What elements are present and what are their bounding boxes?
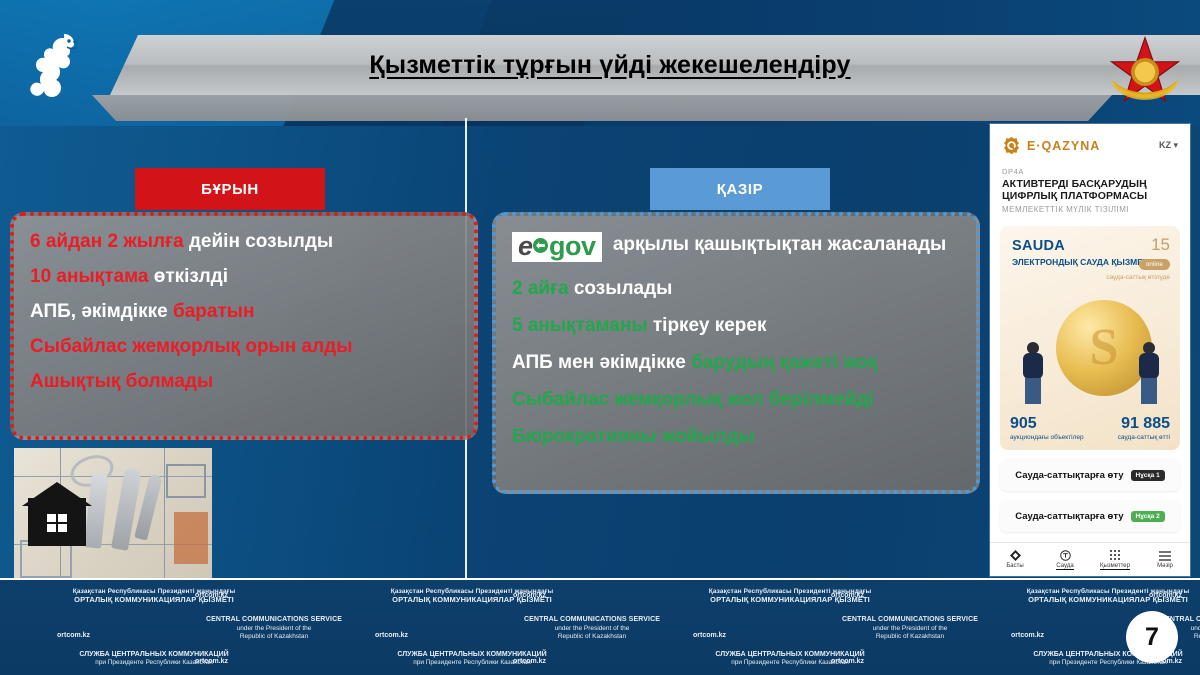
list-item: Сыбайлас жемқорлық жол берілмейді xyxy=(512,390,962,410)
person-graphic xyxy=(1020,342,1046,408)
header-band-shadow xyxy=(92,95,1112,121)
qazyna-logo-icon xyxy=(1002,136,1021,155)
stat-completed-trades: 91 885 сауда-саттық өтті xyxy=(1118,416,1170,442)
slide: Қызметтік тұрғын үйді жекешелендіру БҰРЫ… xyxy=(0,0,1200,675)
phone-code: DP4A xyxy=(1002,167,1178,176)
now-first-line: арқылы қашықтықтан жасаланады xyxy=(613,234,946,255)
phone-brand-bar: E·QAZYNA KZ ▾ xyxy=(1002,136,1178,155)
nav-item-trade[interactable]: Сауда xyxy=(1040,543,1090,576)
egov-dot-icon xyxy=(533,238,548,253)
sauda-online-block: 15 online сауда-саттық өтілуде xyxy=(1106,236,1170,282)
footer-watermark-band: Қазақстан Республикасы Президенті жанынд… xyxy=(0,578,1200,675)
house-window-icon xyxy=(47,514,67,532)
badge-now: ҚАЗІР xyxy=(650,168,830,210)
stat-auction-objects: 905 аукциондағы объектілер xyxy=(1010,416,1084,442)
online-badge: online xyxy=(1139,259,1170,270)
goto-trades-button-2[interactable]: Сауда-саттықтарға өту Нұсқа 2 xyxy=(1000,500,1180,532)
sauda-card[interactable]: SAUDA ЭЛЕКТРОНДЫҚ САУДА ҚЫЗМЕТІ 15 onlin… xyxy=(1000,226,1180,450)
page-number-badge: 7 xyxy=(1126,611,1178,663)
language-selector[interactable]: KZ ▾ xyxy=(1159,140,1178,151)
footer-watermark-tile: Қазақстан Республикасы Президенті жанынд… xyxy=(313,580,631,675)
nav-item-menu[interactable]: Мәзір xyxy=(1140,543,1190,576)
list-item: egov арқылы қашықтықтан жасаланады xyxy=(512,232,962,262)
phone-subheading: МЕМЛЕКЕТТІК МҮЛІК ТІЗІЛІМІ xyxy=(1002,205,1178,214)
list-item: Сыбайлас жемқорлық орын алды xyxy=(30,337,460,357)
phone-bottom-nav: Басты Сауда Қызметтер Мәзір xyxy=(990,542,1190,576)
kazakhstan-star-icon xyxy=(1102,26,1188,118)
list-item: Бюрократияны жойылды xyxy=(512,427,962,447)
footer-watermark-tile: Қазақстан Республикасы Президенті жанынд… xyxy=(0,580,313,675)
phone-top: E·QAZYNA KZ ▾ DP4A АКТИВТЕРДІ БАСҚАРУДЫҢ… xyxy=(990,124,1190,214)
blueprint-shape xyxy=(174,512,208,564)
panel-before: 6 айдан 2 жылға дейін созылды 10 анықтам… xyxy=(10,212,478,440)
nav-item-home[interactable]: Басты xyxy=(990,543,1040,576)
phone-mockup: E·QAZYNA KZ ▾ DP4A АКТИВТЕРДІ БАСҚАРУДЫҢ… xyxy=(990,124,1190,576)
person-graphic xyxy=(1136,342,1162,408)
before-list: 6 айдан 2 жылға дейін созылды 10 анықтам… xyxy=(14,216,474,417)
list-item: Ашықтық болмады xyxy=(30,372,460,392)
list-item: 6 айдан 2 жылға дейін созылды xyxy=(30,232,460,252)
list-item: АПБ, әкімдікке баратын xyxy=(30,302,460,322)
blueprint-shape xyxy=(166,464,206,498)
hamburger-icon xyxy=(1159,550,1171,561)
list-item: 5 анықтаманы тіркеу керек xyxy=(512,316,962,336)
nav-item-services[interactable]: Қызметтер xyxy=(1090,543,1140,576)
phone-brand-name: E·QAZYNA xyxy=(1027,139,1100,153)
version-badge-1: Нұсқа 1 xyxy=(1131,470,1165,481)
tenge-circle-icon xyxy=(1060,550,1071,561)
version-badge-2: Нұсқа 2 xyxy=(1131,511,1165,522)
panel-now: egov арқылы қашықтықтан жасаланады 2 айғ… xyxy=(492,212,980,494)
goto-trades-button-1[interactable]: Сауда-саттықтарға өту Нұсқа 1 xyxy=(1000,459,1180,491)
page-title: Қызметтік тұрғын үйді жекешелендіру xyxy=(110,35,1110,95)
now-list: egov арқылы қашықтықтан жасаланады 2 айғ… xyxy=(496,216,976,474)
snow-leopard-icon xyxy=(24,26,88,118)
house-keys-photo xyxy=(14,448,212,579)
online-label: сауда-саттық өтілуде xyxy=(1106,274,1170,282)
grid-icon xyxy=(1110,550,1121,561)
footer-watermark-tile: Қазақстан Республикасы Президенті жанынд… xyxy=(631,580,949,675)
diamond-icon xyxy=(1010,550,1021,561)
online-count: 15 xyxy=(1106,236,1170,253)
list-item: 10 анықтама өткізлді xyxy=(30,267,460,287)
phone-heading: АКТИВТЕРДІ БАСҚАРУДЫҢ ЦИФРЛЫҚ ПЛАТФОРМАС… xyxy=(1002,178,1178,202)
slide-header: Қызметтік тұрғын үйді жекешелендіру xyxy=(0,0,1200,126)
egov-logo-icon: egov xyxy=(512,232,602,262)
list-item: 2 айға созылады xyxy=(512,279,962,299)
badge-before: БҰРЫН xyxy=(135,168,325,210)
list-item: АПБ мен әкімдікке барудың қажеті жоқ xyxy=(512,353,962,373)
